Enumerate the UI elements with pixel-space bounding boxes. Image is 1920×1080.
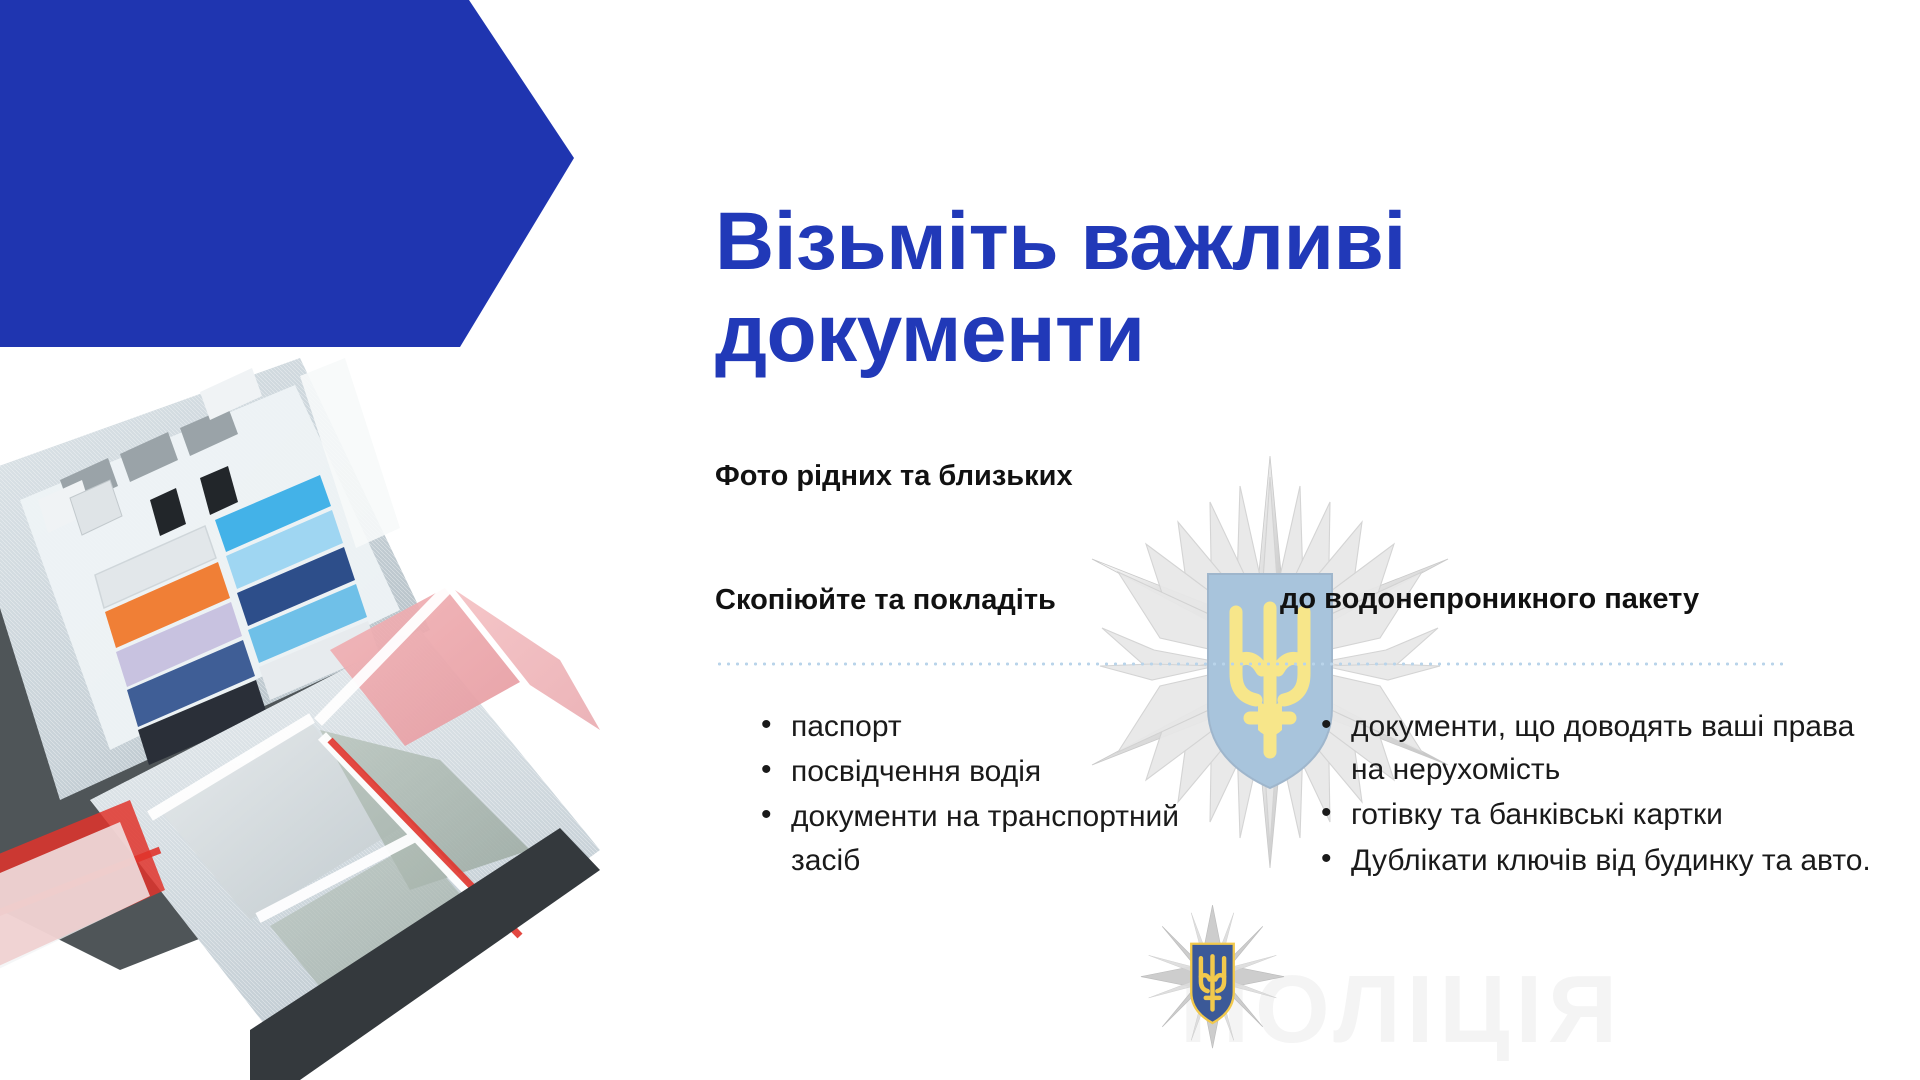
list-item: Дублікати ключів від будинку та авто. bbox=[1351, 839, 1871, 882]
list-item: документи, що доводять ваші права на нер… bbox=[1351, 705, 1871, 791]
list-item: документи на транспортний засіб bbox=[791, 795, 1211, 881]
dotted-divider-icon bbox=[715, 662, 1785, 666]
content-column: Візьміть важливі документи Фото рідних т… bbox=[715, 0, 1860, 1080]
subhead-copy-right: до водонепроникного пакету bbox=[1280, 580, 1700, 619]
list-item: паспорт bbox=[791, 705, 1211, 748]
document-list-left: паспорт посвідчення водія документи на т… bbox=[755, 705, 1211, 884]
document-list-right: документи, що доводять ваші права на нер… bbox=[1315, 705, 1871, 884]
list-item: посвідчення водія bbox=[791, 750, 1211, 793]
page-title: Візьміть важливі документи bbox=[715, 196, 1715, 380]
subhead-copy-left: Скопіюйте та покладіть bbox=[715, 584, 1056, 617]
blue-hexagon-banner-shape bbox=[0, 0, 575, 348]
travel-document-organizer-photo bbox=[0, 330, 600, 1080]
list-item: готівку та банківські картки bbox=[1351, 793, 1871, 836]
subhead-photos: Фото рідних та близьких bbox=[715, 460, 1073, 493]
slide-canvas: ПОЛІЦІЯ bbox=[0, 0, 1920, 1080]
